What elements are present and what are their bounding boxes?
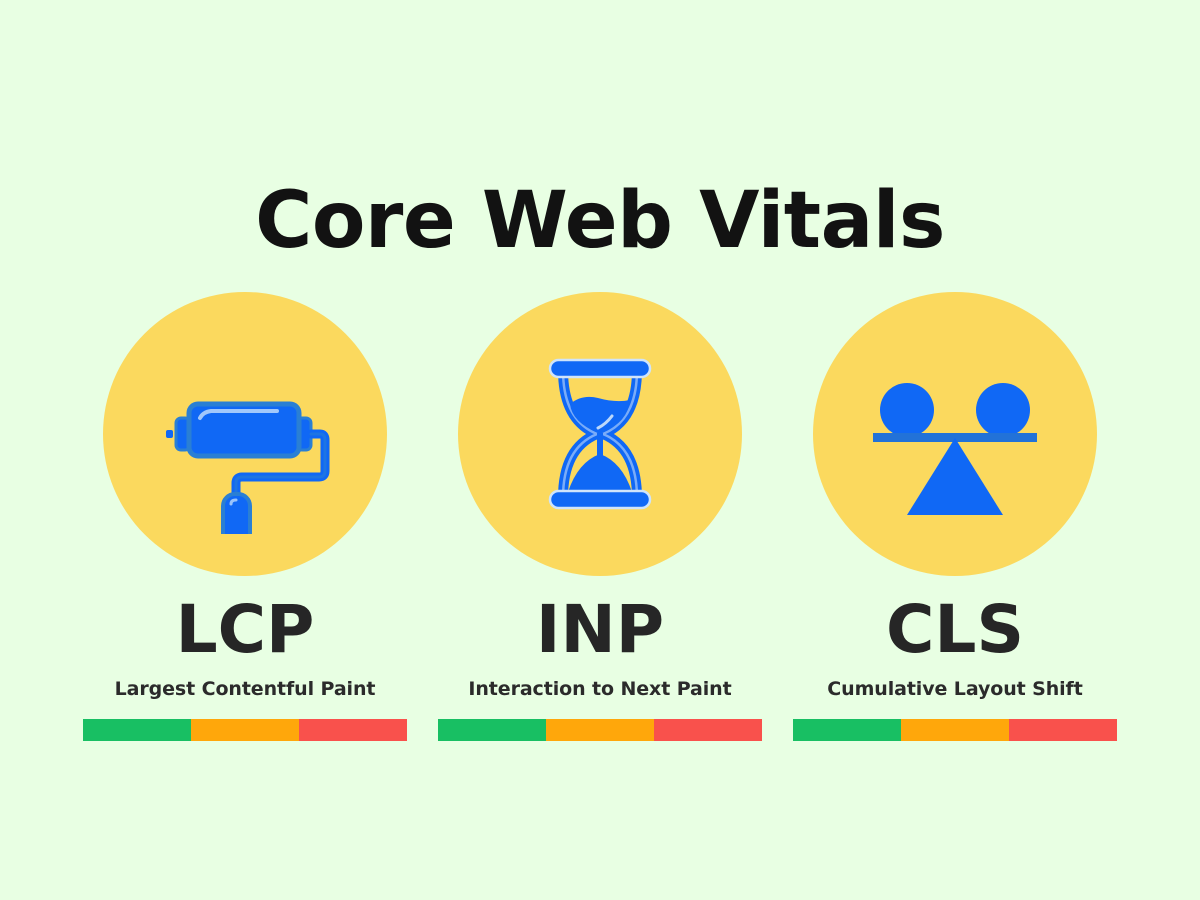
metric-abbr-lcp: LCP [176, 597, 315, 663]
metric-icon-circle-inp [458, 292, 742, 576]
metrics-row: LCP Largest Contentful Paint [0, 292, 1200, 741]
threshold-segment-needs-improvement [901, 719, 1009, 741]
page-title: Core Web Vitals [0, 182, 1200, 260]
hourglass-icon [500, 334, 700, 534]
metric-abbr-cls: CLS [886, 597, 1024, 663]
metric-name-cls: Cumulative Layout Shift [827, 678, 1082, 700]
metric-name-inp: Interaction to Next Paint [468, 678, 731, 700]
metric-card-inp: INP Interaction to Next Paint [458, 292, 742, 741]
metric-icon-circle-lcp [103, 292, 387, 576]
threshold-segment-good [83, 719, 191, 741]
threshold-segment-needs-improvement [191, 719, 299, 741]
threshold-segment-poor [654, 719, 762, 741]
balance-scale-icon [855, 334, 1055, 534]
threshold-segment-good [438, 719, 546, 741]
metric-card-lcp: LCP Largest Contentful Paint [103, 292, 387, 741]
metric-icon-circle-cls [813, 292, 1097, 576]
metric-name-lcp: Largest Contentful Paint [115, 678, 376, 700]
threshold-segment-poor [299, 719, 407, 741]
paint-roller-icon [145, 334, 345, 534]
threshold-bar-lcp [83, 719, 408, 741]
threshold-segment-needs-improvement [546, 719, 654, 741]
metric-abbr-inp: INP [536, 597, 664, 663]
threshold-segment-poor [1009, 719, 1117, 741]
threshold-bar-inp [438, 719, 763, 741]
core-web-vitals-infographic: Core Web Vitals [0, 0, 1200, 900]
metric-card-cls: CLS Cumulative Layout Shift [813, 292, 1097, 741]
threshold-segment-good [793, 719, 901, 741]
threshold-bar-cls [793, 719, 1118, 741]
